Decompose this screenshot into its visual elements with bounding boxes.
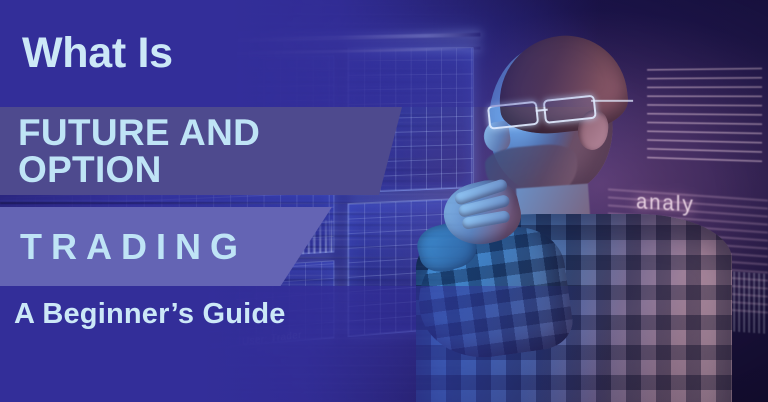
headline-band-three: TRADING	[0, 207, 332, 286]
vignette-overlay	[0, 0, 768, 402]
background-photo: Bitcoin User: Trader analy Buy Sell Hold	[0, 0, 768, 402]
headline-line-2: FUTURE AND OPTION	[0, 114, 402, 188]
headline-line-3: TRADING	[0, 229, 247, 265]
trading-banner: Bitcoin User: Trader analy Buy Sell Hold	[0, 0, 768, 402]
headline-band-two: FUTURE AND OPTION	[0, 107, 402, 195]
